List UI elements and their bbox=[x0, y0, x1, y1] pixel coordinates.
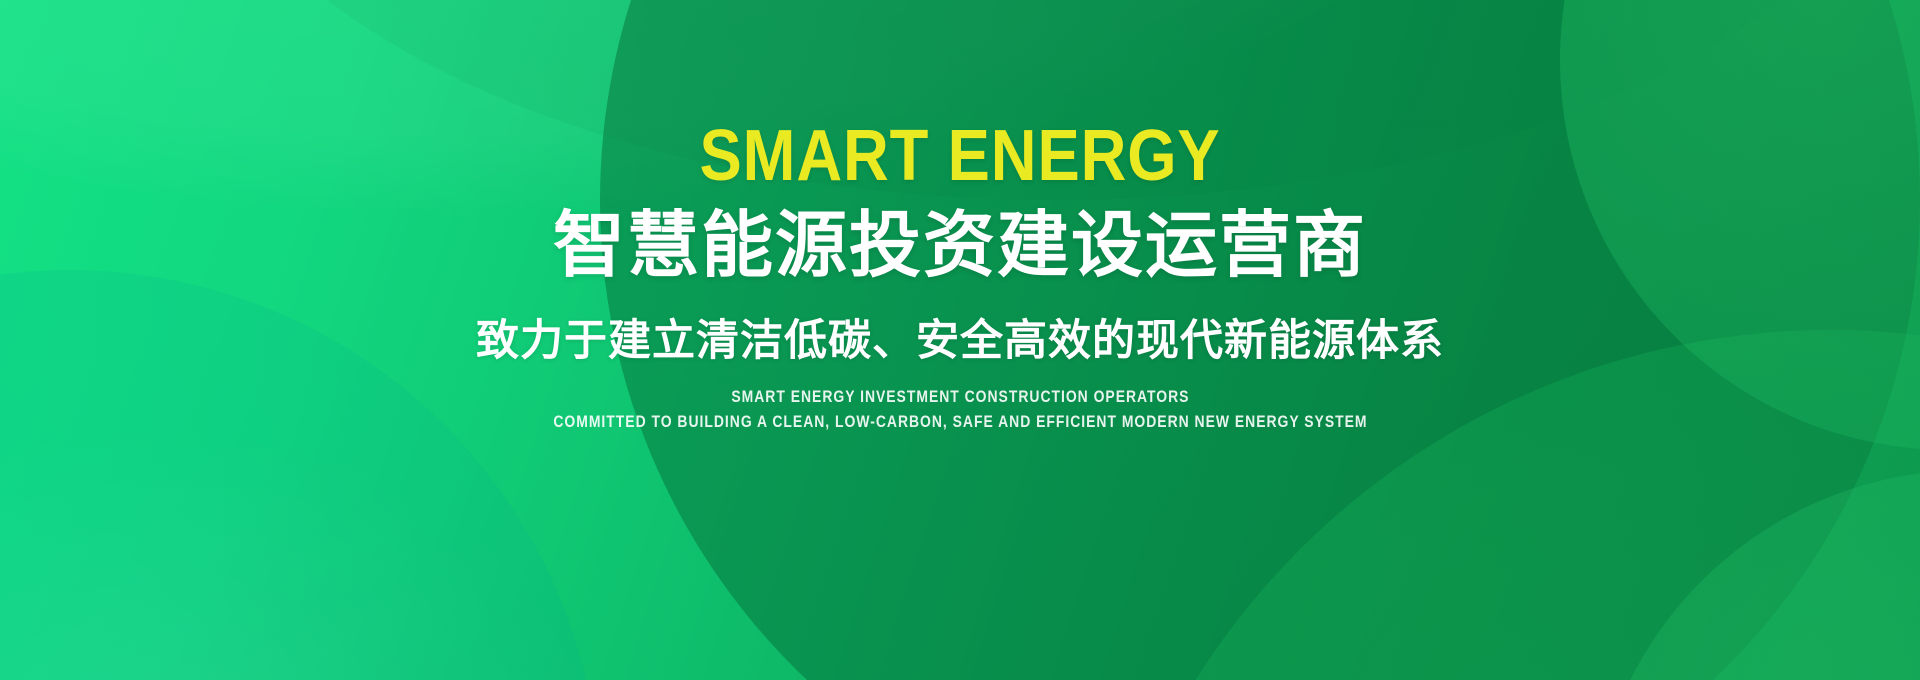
banner-headline-chinese: 智慧能源投资建设运营商 bbox=[553, 208, 1367, 286]
hero-banner: SMART ENERGY 智慧能源投资建设运营商 致力于建立清洁低碳、安全高效的… bbox=[0, 0, 1920, 680]
banner-headline-english: SMART ENERGY bbox=[699, 120, 1220, 192]
banner-subheading-chinese: 致力于建立清洁低碳、安全高效的现代新能源体系 bbox=[476, 318, 1444, 365]
banner-subheading-english-group: SMART ENERGY INVESTMENT CONSTRUCTION OPE… bbox=[464, 385, 1457, 434]
banner-subheading-english-line-2: COMMITTED TO BUILDING A CLEAN, LOW-CARBO… bbox=[553, 410, 1367, 435]
banner-content: SMART ENERGY 智慧能源投资建设运营商 致力于建立清洁低碳、安全高效的… bbox=[0, 0, 1920, 680]
banner-subheading-english-line-1: SMART ENERGY INVESTMENT CONSTRUCTION OPE… bbox=[553, 385, 1367, 410]
